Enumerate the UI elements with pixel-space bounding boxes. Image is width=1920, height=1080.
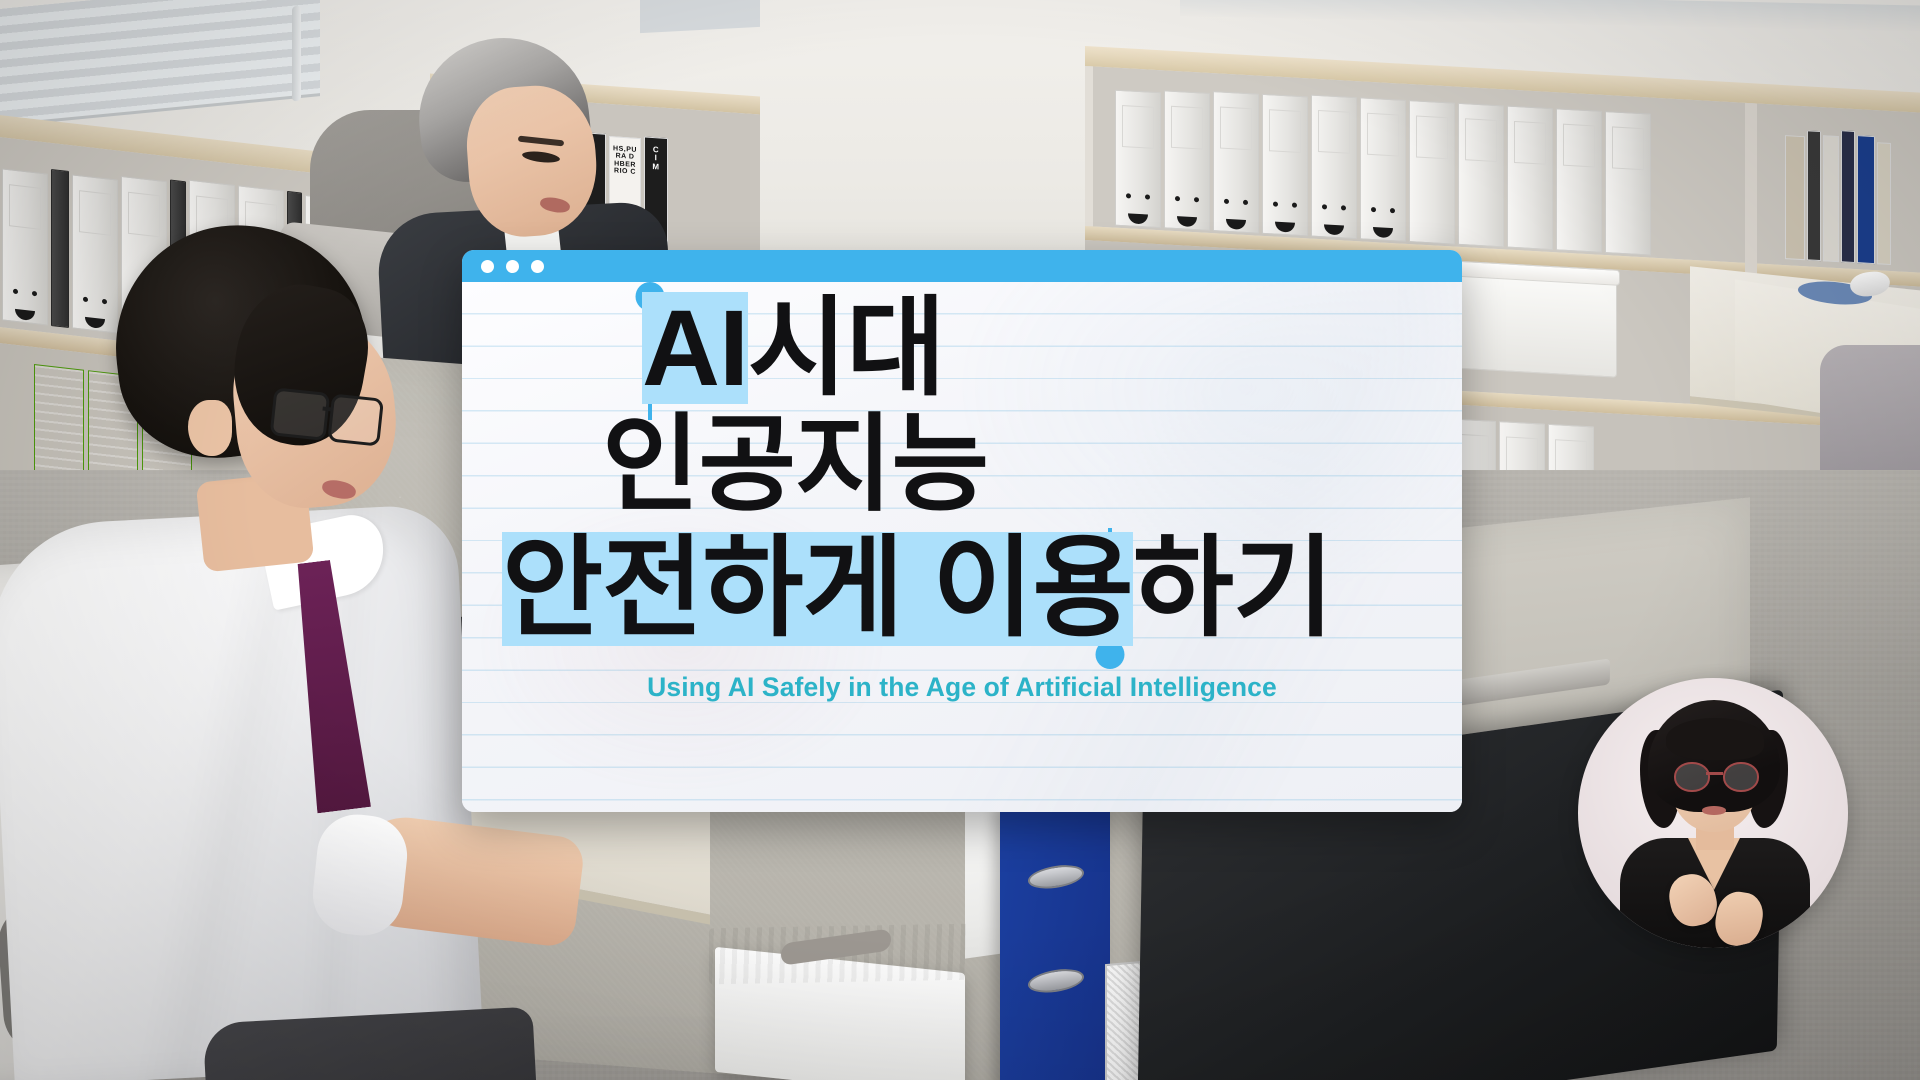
binder-plain <box>1458 103 1504 248</box>
foreground-worker <box>60 225 530 1080</box>
eyeglass-lens-right <box>1723 762 1759 792</box>
title-block: AI시대 인공지능 안전하게 이용하기 Using AI Safely in t… <box>462 282 1462 812</box>
book-spine <box>1841 130 1855 263</box>
window-titlebar[interactable] <box>462 250 1462 282</box>
white-dress-shirt <box>0 503 484 1080</box>
title-line-1-highlight: AI <box>642 292 748 404</box>
binder-smiley <box>1164 90 1210 231</box>
title-line-3: 안전하게 이용하기 <box>502 532 1333 646</box>
binder-smiley <box>2 168 48 325</box>
binder-smiley <box>1311 95 1357 240</box>
tissue-slot <box>781 928 891 965</box>
binder-plain <box>1409 100 1455 245</box>
subtitle-english: Using AI Safely in the Age of Artificial… <box>462 672 1462 703</box>
book-spine <box>1807 130 1821 261</box>
blue-ring-binder <box>1000 792 1110 1080</box>
binder-row <box>1115 84 1651 256</box>
book-spine <box>1877 142 1891 265</box>
blinds-rod <box>292 6 301 102</box>
binder-smiley <box>1115 90 1161 229</box>
tissue-box <box>715 947 965 1080</box>
title-card-window: AI시대 인공지능 안전하게 이용하기 Using AI Safely in t… <box>462 250 1462 812</box>
window-minimize-dot[interactable] <box>506 260 519 273</box>
screenshot-stage: NOM HS,PURA DHBERRIO C CIM <box>0 0 1920 1080</box>
book-row-right <box>1785 127 1891 265</box>
window-maximize-dot[interactable] <box>531 260 544 273</box>
ear <box>188 400 232 456</box>
title-line-2: 인공지능 <box>602 412 988 518</box>
title-line-3-rest: 하기 <box>1133 532 1333 646</box>
book-spine <box>1857 135 1875 264</box>
binder-smiley <box>1360 97 1406 242</box>
title-line-1: AI시대 <box>642 292 945 404</box>
binder-plain <box>1556 108 1602 253</box>
binder-smiley <box>1213 91 1259 234</box>
binder-smiley <box>1262 94 1308 237</box>
title-line-3-highlight: 안전하게 이용 <box>502 532 1133 646</box>
binder-plain <box>1605 111 1651 256</box>
title-line-1-rest: 시대 <box>748 292 945 404</box>
book-spine <box>1823 135 1839 262</box>
sign-language-interpreter-overlay <box>1578 678 1848 948</box>
book-spine <box>1785 135 1805 260</box>
binder-plain <box>1507 106 1553 251</box>
window-close-dot[interactable] <box>481 260 494 273</box>
mouth <box>1702 806 1726 815</box>
eyeglass-lens-left <box>1674 762 1710 792</box>
hair-bangs <box>1666 718 1764 760</box>
eyeglass-bridge <box>1706 772 1723 775</box>
